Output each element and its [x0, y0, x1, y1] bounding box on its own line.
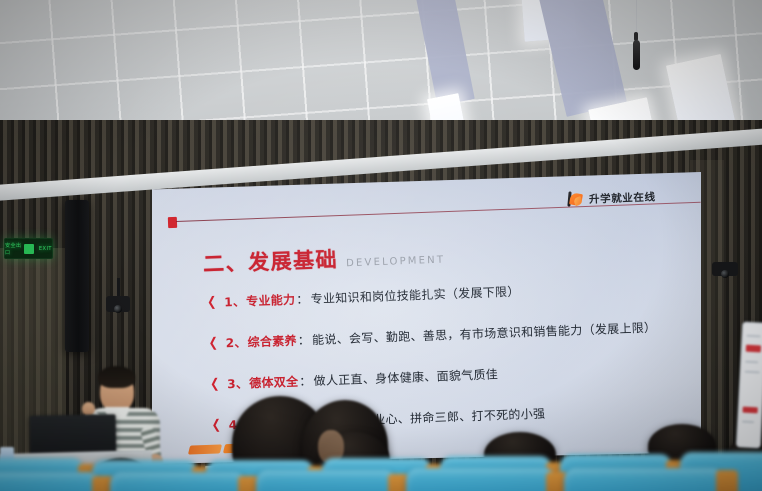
wall-camera	[712, 262, 738, 276]
bullet-colon: ：	[299, 372, 312, 389]
exit-sign: 安全出口 EXIT	[4, 238, 53, 259]
auditorium-seat[interactable]	[256, 470, 396, 491]
hanging-microphone	[633, 40, 640, 70]
screenshot-root: 安全出口 EXIT 升学就业在线 二、发展基础 DEVELOPMENT ❮ 1、…	[0, 0, 762, 491]
slide-title-cn: 二、发展基础	[203, 243, 339, 278]
chevron-left-icon: ❮	[208, 337, 218, 350]
microphone-cable	[636, 0, 637, 34]
bullet-text: 做人正直、身体健康、面貌气质佳	[313, 365, 498, 389]
brand-name: 升学就业在线	[589, 189, 656, 206]
bullet-text: 能说、会写、勤跑、善思，有市场意识和销售能力（发展上限）	[312, 319, 657, 349]
seat-armrest	[716, 470, 738, 491]
bullet-key: 德体双全	[249, 373, 299, 392]
column-speaker	[65, 200, 89, 352]
bullet-number: 3、	[227, 375, 249, 393]
auditorium-seat[interactable]	[406, 468, 556, 491]
slide-brand: 升学就业在线	[566, 188, 656, 208]
wall-camera	[106, 296, 130, 312]
chevron-left-icon: ❮	[207, 296, 217, 309]
running-man-icon	[24, 244, 34, 254]
auditorium-seat[interactable]	[0, 472, 100, 491]
presenter-hair	[98, 366, 135, 388]
bullet-colon: ：	[298, 331, 311, 348]
chevron-left-icon: ❮	[210, 378, 220, 391]
bullet-number: 1、	[224, 293, 246, 311]
bullet-key: 专业能力	[246, 291, 296, 310]
bullet-colon: ：	[296, 290, 309, 307]
bullet-number: 2、	[225, 334, 247, 352]
bullet-key: 综合素养	[247, 332, 297, 351]
slide-title-en: DEVELOPMENT	[346, 255, 445, 270]
list-item: ❮ 2、 综合素养 ： 能说、会写、勤跑、善思，有市场意识和销售能力（发展上限）	[208, 319, 657, 352]
slide-rule-marker	[168, 217, 177, 228]
auditorium-seat[interactable]	[564, 468, 724, 491]
flame-leaf-icon	[566, 191, 584, 209]
exit-sign-label-right: EXIT	[39, 246, 52, 252]
auditorium-seat[interactable]	[110, 472, 246, 491]
chevron-left-icon: ❮	[211, 419, 221, 432]
list-item: ❮ 3、 德体双全 ： 做人正直、身体健康、面貌气质佳	[209, 359, 658, 392]
